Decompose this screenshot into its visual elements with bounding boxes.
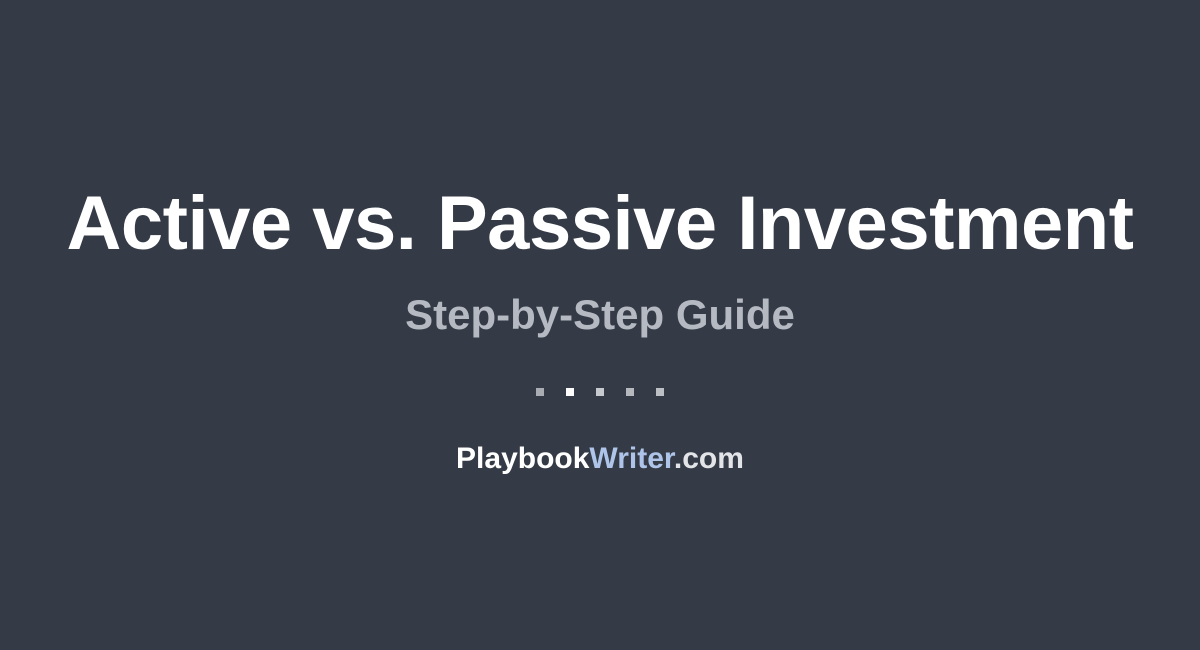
divider-dot-2 (566, 388, 574, 396)
brand-name-accent: Writer (589, 442, 673, 475)
brand-name-primary: Playbook (456, 442, 589, 475)
page-title: Active vs. Passive Investment (67, 186, 1134, 262)
divider-dot-4 (626, 388, 634, 396)
divider-dot-5 (656, 388, 664, 396)
brand-name-tld: .com (674, 442, 744, 475)
divider-dot-3 (596, 388, 604, 396)
divider-dot-1 (536, 388, 544, 396)
dot-divider (536, 336, 664, 396)
brand-wordmark: PlaybookWriter.com (456, 396, 744, 474)
cover-slide: Active vs. Passive Investment Step-by-St… (0, 0, 1200, 650)
page-subtitle: Step-by-Step Guide (405, 262, 795, 336)
